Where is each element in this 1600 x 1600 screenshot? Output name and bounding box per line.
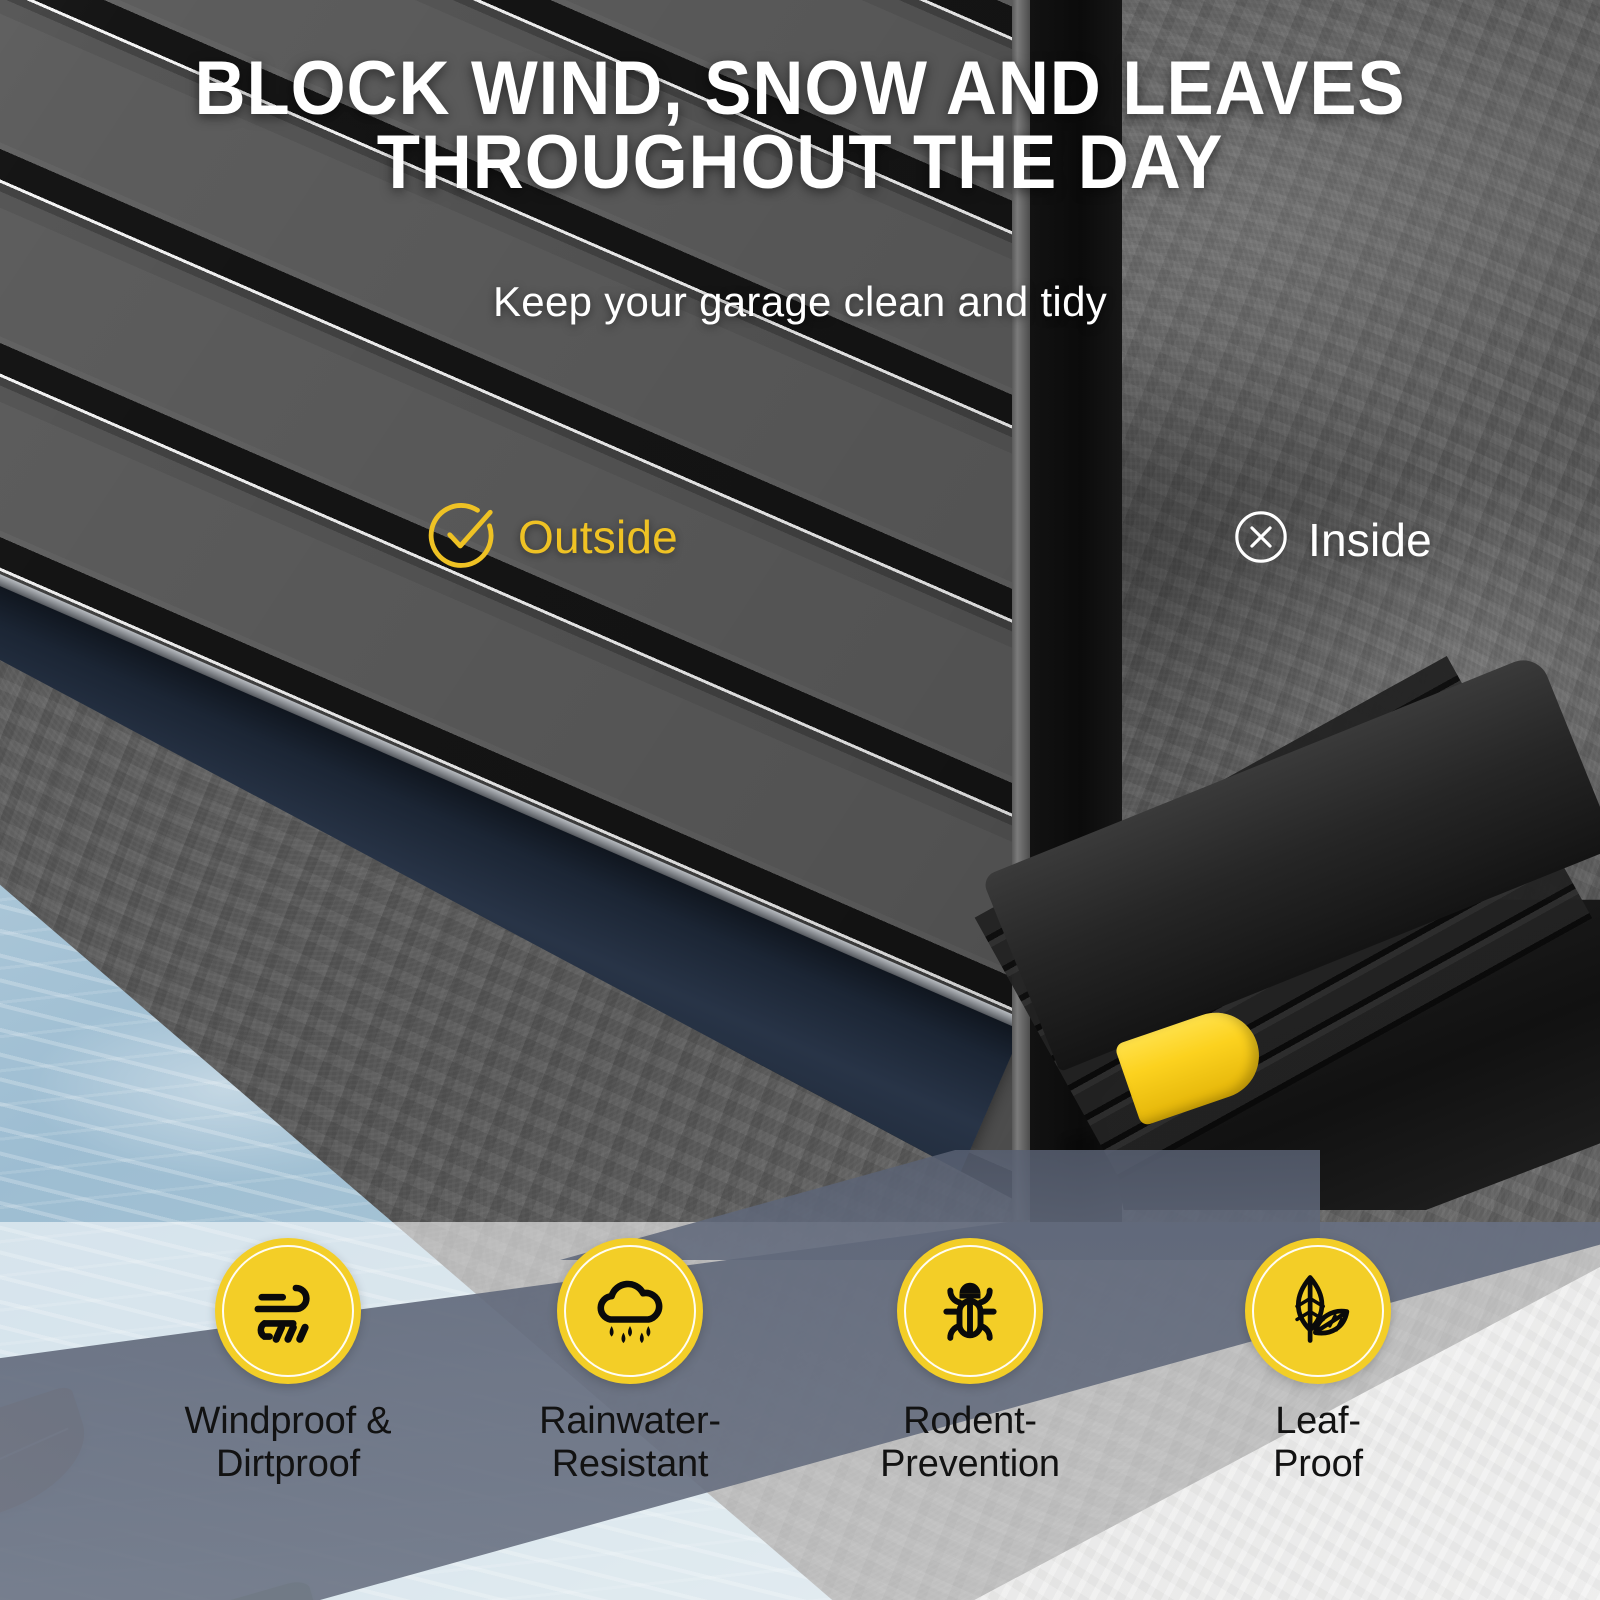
feature-label: Rodent- Prevention: [820, 1400, 1120, 1485]
feature-icon-badge: [1245, 1238, 1391, 1384]
feature-item-windproof: Windproof & Dirtproof: [138, 1238, 438, 1485]
leaf-icon: [1276, 1267, 1360, 1356]
check-circle-icon: [428, 498, 500, 575]
feature-label-line-2: Prevention: [820, 1443, 1120, 1486]
headline: BLOCK WIND, SNOW AND LEAVES THROUGHOUT T…: [56, 52, 1544, 201]
feature-label-line-1: Rodent-: [820, 1400, 1120, 1443]
marker-inside-label: Inside: [1308, 513, 1432, 567]
feature-label: Rainwater- Resistant: [480, 1400, 780, 1485]
feature-item-rodent: Rodent- Prevention: [820, 1238, 1120, 1485]
x-circle-icon: [1232, 508, 1290, 571]
feature-label: Leaf- Proof: [1168, 1400, 1468, 1485]
feature-label-line-1: Rainwater-: [480, 1400, 780, 1443]
feature-label: Windproof & Dirtproof: [138, 1400, 438, 1485]
headline-line-2: THROUGHOUT THE DAY: [56, 126, 1544, 200]
marker-inside: Inside: [1232, 508, 1432, 571]
feature-label-line-1: Leaf-: [1168, 1400, 1468, 1443]
feature-label-line-1: Windproof &: [138, 1400, 438, 1443]
feature-label-line-2: Dirtproof: [138, 1443, 438, 1486]
feature-icon-badge: [215, 1238, 361, 1384]
wind-dust-icon: [246, 1267, 330, 1356]
feature-item-rainwater: Rainwater- Resistant: [480, 1238, 780, 1485]
headline-line-1: BLOCK WIND, SNOW AND LEAVES: [195, 46, 1406, 131]
feature-icon-badge: [557, 1238, 703, 1384]
marker-outside: Outside: [428, 498, 678, 575]
bug-icon: [928, 1267, 1012, 1356]
product-marketing-image: BLOCK WIND, SNOW AND LEAVES THROUGHOUT T…: [0, 0, 1600, 1600]
feature-label-line-2: Proof: [1168, 1443, 1468, 1486]
feature-item-leaf: Leaf- Proof: [1168, 1238, 1468, 1485]
feature-icon-badge: [897, 1238, 1043, 1384]
marker-outside-label: Outside: [518, 510, 678, 564]
feature-label-line-2: Resistant: [480, 1443, 780, 1486]
subtitle: Keep your garage clean and tidy: [0, 278, 1600, 326]
rain-cloud-icon: [588, 1267, 672, 1356]
feature-list: Windproof & Dirtproof Rainw: [0, 1238, 1600, 1600]
